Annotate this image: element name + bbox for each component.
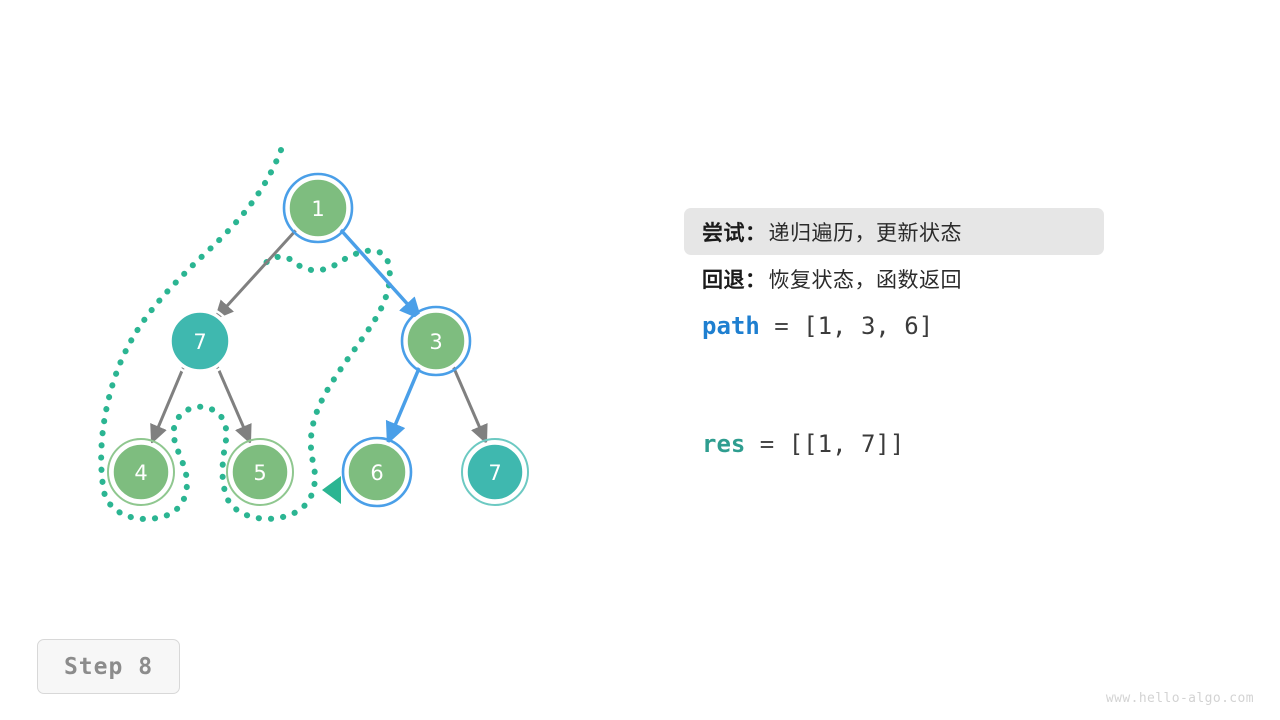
info-row-try: 尝试： 递归遍历，更新状态 (684, 208, 1104, 255)
node-7-right-label: 7 (488, 461, 501, 485)
info-row-backtrack: 回退： 恢复状态，函数返回 (684, 255, 1104, 302)
edge-1-to-3 (340, 229, 420, 318)
tree-node-7-left[interactable]: 7 (166, 307, 234, 375)
step-badge-label: Step 8 (64, 654, 153, 680)
edge-3-to-7 (453, 366, 486, 442)
node-6-label: 6 (370, 461, 383, 485)
code-row-res: res = [[1, 7]] (684, 420, 1104, 467)
variable-res-name: res (702, 430, 745, 458)
info-row-try-value: 递归遍历，更新状态 (769, 217, 963, 247)
watermark: www.hello-algo.com (1106, 691, 1254, 706)
step-badge: Step 8 (37, 639, 180, 694)
tree-node-6[interactable]: 6 (343, 438, 411, 506)
tree-node-3[interactable]: 3 (402, 307, 470, 375)
variable-res-operator: = (745, 430, 788, 458)
tree-node-1[interactable]: 1 (284, 174, 352, 242)
edge-7-to-5 (217, 366, 250, 442)
variable-path-operator: = (760, 312, 803, 340)
binary-tree-diagram: 1 7 3 4 5 6 (0, 0, 700, 620)
info-row-backtrack-value: 恢复状态，函数返回 (769, 264, 963, 294)
edge-7-to-4 (152, 366, 184, 442)
info-row-try-key: 尝试： (702, 217, 767, 247)
diagram-canvas: 1 7 3 4 5 6 (0, 0, 1280, 720)
variable-path-name: path (702, 312, 760, 340)
node-1-label: 1 (311, 197, 324, 221)
node-3-label: 3 (429, 330, 442, 354)
node-7-left-label: 7 (193, 330, 206, 354)
tree-node-5[interactable]: 5 (227, 439, 293, 505)
node-4-label: 4 (134, 461, 147, 485)
tree-node-4[interactable]: 4 (108, 439, 174, 505)
code-row-path: path = [1, 3, 6] (684, 302, 1104, 349)
tree-node-7-right[interactable]: 7 (462, 439, 528, 505)
backtrack-direction-marker-icon (322, 476, 341, 504)
edge-3-to-6 (388, 366, 420, 442)
info-row-backtrack-key: 回退： (702, 264, 767, 294)
state-info-panel: 尝试： 递归遍历，更新状态 回退： 恢复状态，函数返回 path = [1, 3… (684, 208, 1104, 467)
variable-res-value: [[1, 7]] (789, 430, 905, 458)
edge-1-to-7 (216, 229, 297, 318)
node-5-label: 5 (253, 461, 266, 485)
variable-path-value: [1, 3, 6] (803, 312, 933, 340)
